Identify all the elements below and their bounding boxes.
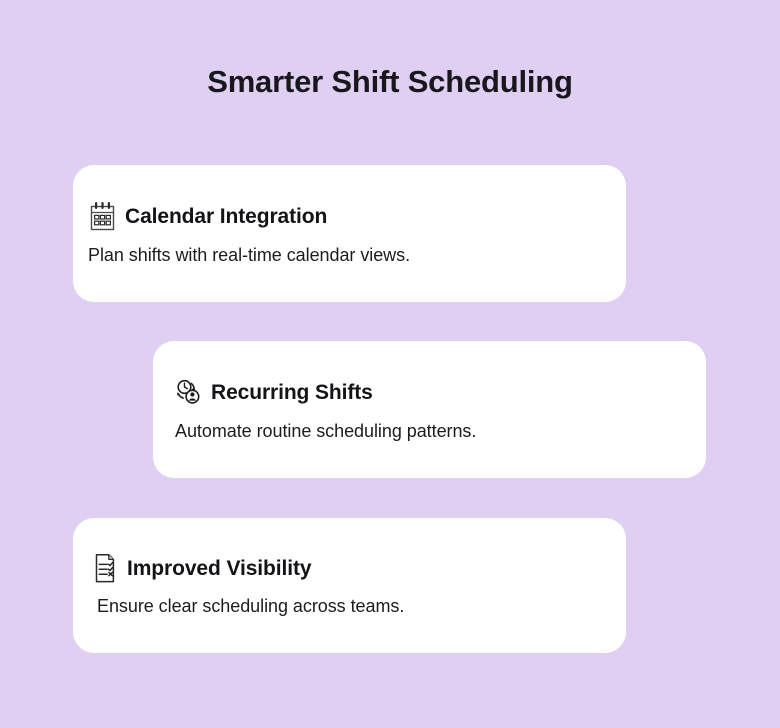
calendar-icon	[89, 201, 116, 232]
card-description: Plan shifts with real-time calendar view…	[88, 243, 410, 267]
checklist-note-icon	[91, 553, 118, 584]
card-header: Improved Visibility	[91, 553, 311, 584]
feature-card[interactable]: Calendar Integration Plan shifts with re…	[73, 165, 626, 302]
card-title: Calendar Integration	[125, 204, 327, 230]
feature-card[interactable]: Recurring Shifts Automate routine schedu…	[153, 341, 706, 478]
card-description: Ensure clear scheduling across teams.	[97, 594, 404, 618]
feature-card[interactable]: Improved Visibility Ensure clear schedul…	[73, 518, 626, 653]
card-title: Improved Visibility	[127, 556, 311, 582]
card-description: Automate routine scheduling patterns.	[175, 419, 476, 443]
card-header: Calendar Integration	[89, 201, 327, 232]
recurring-shift-icon	[175, 377, 202, 408]
page-title: Smarter Shift Scheduling	[0, 62, 780, 102]
card-title: Recurring Shifts	[211, 380, 373, 406]
card-header: Recurring Shifts	[175, 377, 373, 408]
